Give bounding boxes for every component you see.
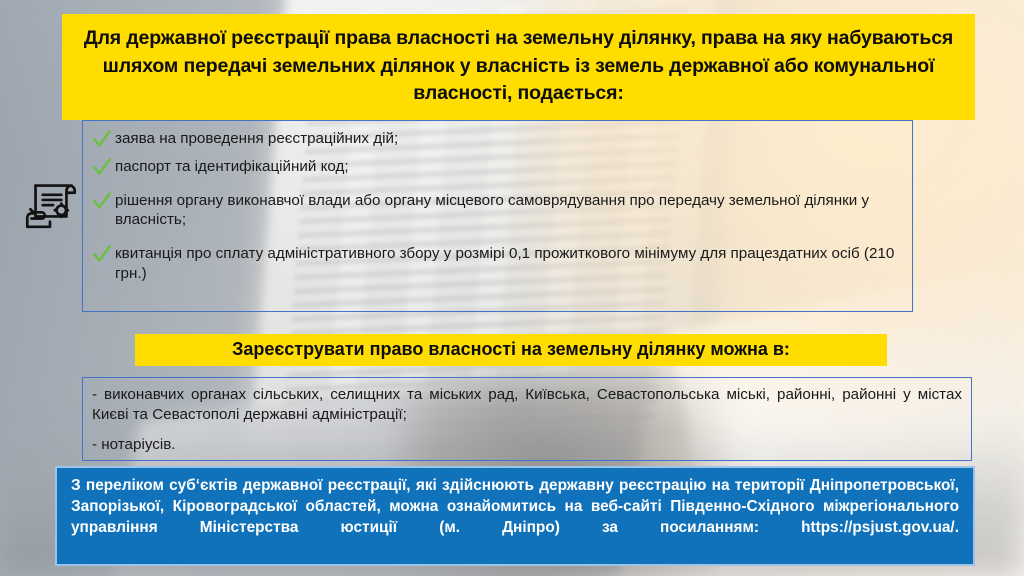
sub-title-banner: Зареєструвати право власності на земельн… — [135, 334, 887, 366]
list-item: - виконавчих органах сільських, селищних… — [92, 385, 962, 425]
green-check-icon — [92, 156, 112, 176]
list-item-text: рішення органу виконавчої влади або орга… — [115, 192, 869, 229]
list-item-text: паспорт та ідентифікаційний код; — [115, 158, 349, 175]
list-item-text: квитанція про сплату адміністративного з… — [115, 245, 894, 282]
list-item: заява на проведення реєстраційних дій; — [91, 129, 902, 149]
list-item: рішення органу виконавчої влади або орга… — [91, 191, 902, 231]
slide-content: Для державної реєстрації права власності… — [0, 0, 1024, 576]
registrars-list-box: - виконавчих органах сільських, селищних… — [82, 377, 972, 461]
sub-title-text: Зареєструвати право власності на земельн… — [145, 338, 877, 361]
list-item-text: заява на проведення реєстраційних дій; — [115, 130, 398, 147]
title-text: Для державної реєстрації права власності… — [76, 25, 961, 108]
footer-info-banner: З переліком суб‘єктів державної реєстрац… — [55, 466, 975, 566]
documents-list-box: заява на проведення реєстраційних дій; п… — [82, 120, 913, 312]
certificate-in-hand-icon — [18, 168, 84, 234]
list-item: паспорт та ідентифікаційний код; — [91, 157, 902, 177]
footer-info-text: З переліком суб‘єктів державної реєстрац… — [71, 476, 959, 560]
title-banner: Для державної реєстрації права власності… — [62, 14, 975, 120]
green-check-icon — [92, 243, 112, 263]
list-item: - нотаріусів. — [92, 435, 962, 455]
list-item: квитанція про сплату адміністративного з… — [91, 244, 902, 284]
slide-canvas: Для державної реєстрації права власності… — [0, 0, 1024, 576]
green-check-icon — [92, 128, 112, 148]
green-check-icon — [92, 190, 112, 210]
